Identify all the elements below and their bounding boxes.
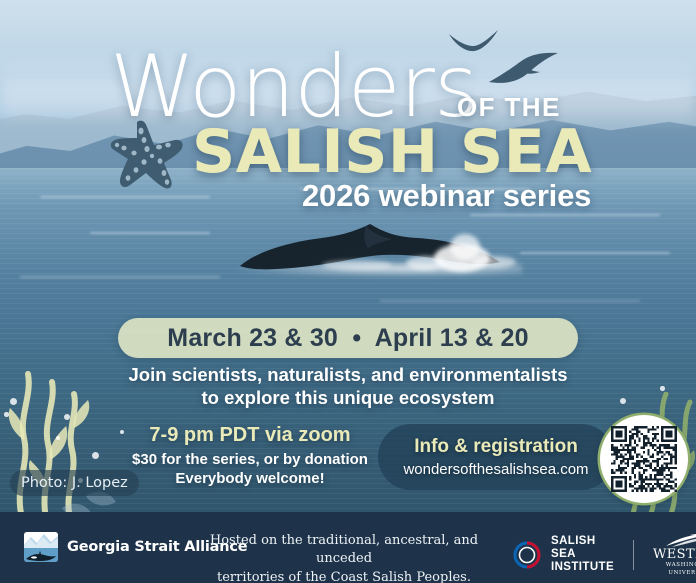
- details-block: 7-9 pm PDT via zoom $30 for the series, …: [100, 424, 400, 487]
- institute-line-1: SALISH SEA: [551, 535, 614, 561]
- info-url-link[interactable]: wondersofthesalishsea.com: [403, 461, 588, 478]
- salish-sea-institute-ring-icon: [512, 540, 542, 570]
- institute-name: SALISH SEA INSTITUTE: [551, 535, 614, 574]
- footer-bar: Georgia Strait Alliance Hosted on the tr…: [0, 512, 696, 583]
- whale-fluke: [236, 222, 504, 292]
- dates-text: March 23 & 30 • April 13 & 20: [167, 324, 528, 353]
- tagline-line-1: Join scientists, naturalists, and enviro…: [0, 364, 696, 387]
- western-washington-university-logo[interactable]: WESTERN WASHINGTON UNIVERSITY: [653, 532, 696, 578]
- orca-logo-icon: [24, 532, 58, 562]
- time-text: 7-9 pm PDT via zoom: [100, 424, 400, 447]
- university-sub-2: UNIVERSITY: [668, 570, 696, 577]
- headline-salish-sea: SALISH SEA: [192, 122, 592, 182]
- dates-banner: March 23 & 30 • April 13 & 20: [118, 318, 578, 358]
- wwu-mountain-icon: [664, 532, 696, 548]
- tagline-line-2: to explore this unique ecosystem: [0, 387, 696, 410]
- institute-line-2: INSTITUTE: [551, 561, 614, 574]
- photo-credit-text: Photo: J. Lopez: [21, 475, 128, 491]
- qr-code-icon[interactable]: [611, 426, 677, 492]
- photo-credit: Photo: J. Lopez: [10, 470, 139, 496]
- logo-divider: [633, 540, 634, 570]
- university-name: WESTERN: [653, 548, 696, 561]
- headline-subtitle: 2026 webinar series: [302, 178, 591, 214]
- land-acknowledgement: Hosted on the traditional, ancestral, an…: [196, 532, 492, 583]
- seagull-icon: [488, 52, 560, 86]
- qr-code-badge[interactable]: [600, 415, 688, 503]
- acknowledgement-line-1: Hosted on the traditional, ancestral, an…: [196, 532, 492, 569]
- university-sub-1: WASHINGTON: [666, 562, 696, 569]
- info-heading: Info & registration: [414, 436, 578, 458]
- welcome-text: Everybody welcome!: [100, 470, 400, 487]
- acknowledgement-line-2: territories of the Coast Salish Peoples.: [196, 569, 492, 583]
- info-registration-panel[interactable]: Info & registration wondersofthesalishse…: [378, 424, 614, 490]
- partner-logos[interactable]: SALISH SEA INSTITUTE WESTERN WASHINGTON …: [512, 532, 696, 578]
- poster: Wonders OF THE SALISH SEA 2026 webinar s…: [0, 0, 696, 583]
- price-text: $30 for the series, or by donation: [100, 451, 400, 468]
- tagline: Join scientists, naturalists, and enviro…: [0, 364, 696, 409]
